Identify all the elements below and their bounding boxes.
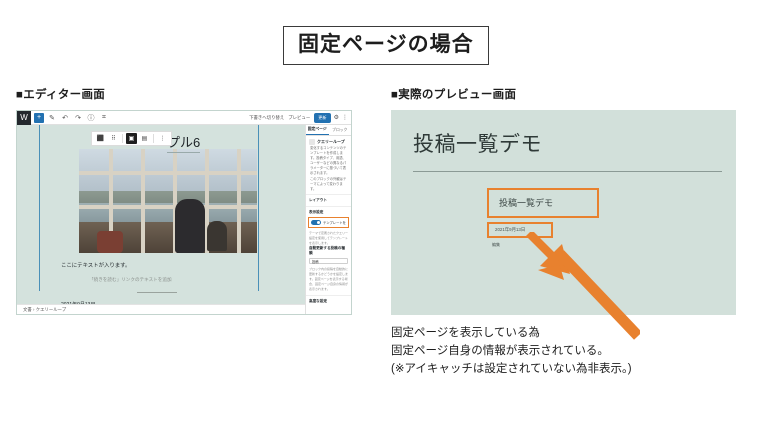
selection-rail-left — [39, 125, 40, 291]
selection-rail-right — [258, 125, 259, 291]
editor-body: ⬛ ⠿ ▣ ▤ ⋮ プル6 — [17, 125, 351, 315]
preview-heading-rule — [413, 171, 722, 172]
block-description: 変化するコンテンツのテンプレートを作成します。投稿タイプ、用語、ユーザーなどの異… — [306, 145, 351, 176]
editor-toolbar: W + ✎ ↶ ↷ ⓘ ⌗ 下書きへ切り替え プレビュー 更新 ⚙ ⋮ — [17, 111, 351, 125]
more-options-icon[interactable]: ⋮ — [157, 133, 168, 144]
page-title: 固定ページの場合 — [283, 26, 489, 65]
post-link[interactable]: 投稿一覧デモ — [499, 196, 587, 209]
window-mullion — [237, 149, 241, 253]
toolbar-divider-2 — [153, 134, 154, 143]
select-note: ブロック内の投稿を自動的に更新するかどうかを設定します。固定ページを表示する場合… — [306, 266, 351, 292]
block-toolbar[interactable]: ⬛ ⠿ ▣ ▤ ⋮ — [91, 131, 172, 146]
query-loop-icon — [309, 139, 315, 145]
sidebar-divider-2 — [306, 206, 351, 207]
section-display[interactable]: 表示設定 — [306, 210, 351, 215]
block-name: クエリーループ — [317, 139, 345, 145]
section-advanced[interactable]: 高度な設定 — [306, 299, 351, 304]
post-link-highlight: 投稿一覧デモ — [487, 188, 599, 218]
post-type-select[interactable]: 投稿 — [309, 258, 348, 264]
sidebar-divider — [306, 194, 351, 195]
inherit-template-setting-highlight[interactable]: テンプレートをテーマに継承 — [308, 217, 349, 228]
options-icon[interactable]: ⋮ — [342, 114, 348, 121]
block-type-icon[interactable]: ⬛ — [95, 133, 106, 144]
preview-section-caption: ■実際のプレビュー画面 — [391, 86, 516, 102]
redo-icon[interactable]: ↷ — [73, 113, 83, 123]
note-line-2: 固定ページ自身の情報が表示されている。 — [391, 343, 632, 361]
paragraph-block[interactable]: ここにテキストが入ります。 — [61, 261, 130, 269]
separator-block — [137, 292, 177, 293]
image-chair — [97, 231, 123, 253]
image-person-2 — [207, 221, 227, 251]
sidebar-block-header: クエリーループ — [306, 136, 351, 145]
image-person — [175, 199, 205, 253]
drag-handle-icon[interactable]: ⠿ — [108, 133, 119, 144]
info-icon[interactable]: ⓘ — [86, 113, 96, 123]
outline-icon[interactable]: ⌗ — [99, 113, 109, 123]
tab-block[interactable]: ブロック — [329, 125, 352, 135]
sidebar-divider-3 — [306, 295, 351, 296]
list-view-icon[interactable]: ▤ — [139, 133, 150, 144]
window-transom — [79, 205, 257, 209]
sidebar-tabs: 固定ページ ブロック — [306, 125, 351, 136]
slide-canvas: 固定ページの場合 ■エディター画面 ■実際のプレビュー画面 W + ✎ ↶ ↷ … — [0, 0, 768, 432]
preview-page-heading: 投稿一覧デモ — [413, 128, 542, 158]
wordpress-logo-icon[interactable]: W — [17, 111, 31, 125]
update-button[interactable]: 更新 — [314, 113, 330, 123]
inherit-template-toggle[interactable] — [311, 220, 321, 226]
block-description-2: このブロックの外観はテーマによって変わります。 — [306, 176, 351, 192]
editor-sidebar: 固定ページ ブロック クエリーループ 変化するコンテンツのテンプレートを作成しま… — [305, 125, 351, 315]
edit-link[interactable]: 編集 — [492, 242, 500, 248]
breadcrumb[interactable]: 文書 › クエリーループ — [17, 304, 305, 315]
window-transom — [79, 171, 257, 175]
note-line-3: (※アイキャッチは設定されていない為非表示。) — [391, 361, 632, 379]
edit-tool-icon[interactable]: ✎ — [47, 113, 57, 123]
undo-icon[interactable]: ↶ — [60, 113, 70, 123]
editor-canvas[interactable]: ⬛ ⠿ ▣ ▤ ⋮ プル6 — [17, 125, 305, 315]
window-mullion — [141, 149, 145, 253]
tab-page[interactable]: 固定ページ — [306, 125, 329, 135]
switch-to-draft-button[interactable]: 下書きへ切り替え — [249, 115, 284, 121]
inherit-template-note: テーマで定義されたクエリー設定を使用してテンプレートを表示します。 — [306, 230, 351, 246]
align-icon[interactable]: ▣ — [126, 133, 137, 144]
preview-button[interactable]: プレビュー — [288, 115, 310, 121]
editor-section-caption: ■エディター画面 — [16, 86, 105, 102]
toolbar-divider — [122, 134, 123, 143]
select-label: 自動更新する投稿の種類 — [306, 246, 351, 256]
add-block-icon[interactable]: + — [34, 113, 44, 123]
editor-screenshot: W + ✎ ↶ ↷ ⓘ ⌗ 下書きへ切り替え プレビュー 更新 ⚙ ⋮ ⬛ ⠿ — [16, 110, 352, 315]
section-layout[interactable]: レイアウト — [306, 198, 351, 203]
more-link-placeholder[interactable]: 「続きを読む」リンクのテキストを追加 — [89, 277, 172, 283]
note-line-1: 固定ページを表示している為 — [391, 325, 632, 343]
gear-icon[interactable]: ⚙ — [334, 114, 339, 121]
explanation-note: 固定ページを表示している為 固定ページ自身の情報が表示されている。 (※アイキャ… — [391, 325, 632, 378]
inherit-template-label: テンプレートをテーマに継承 — [323, 220, 346, 225]
featured-image-block[interactable] — [79, 149, 257, 253]
